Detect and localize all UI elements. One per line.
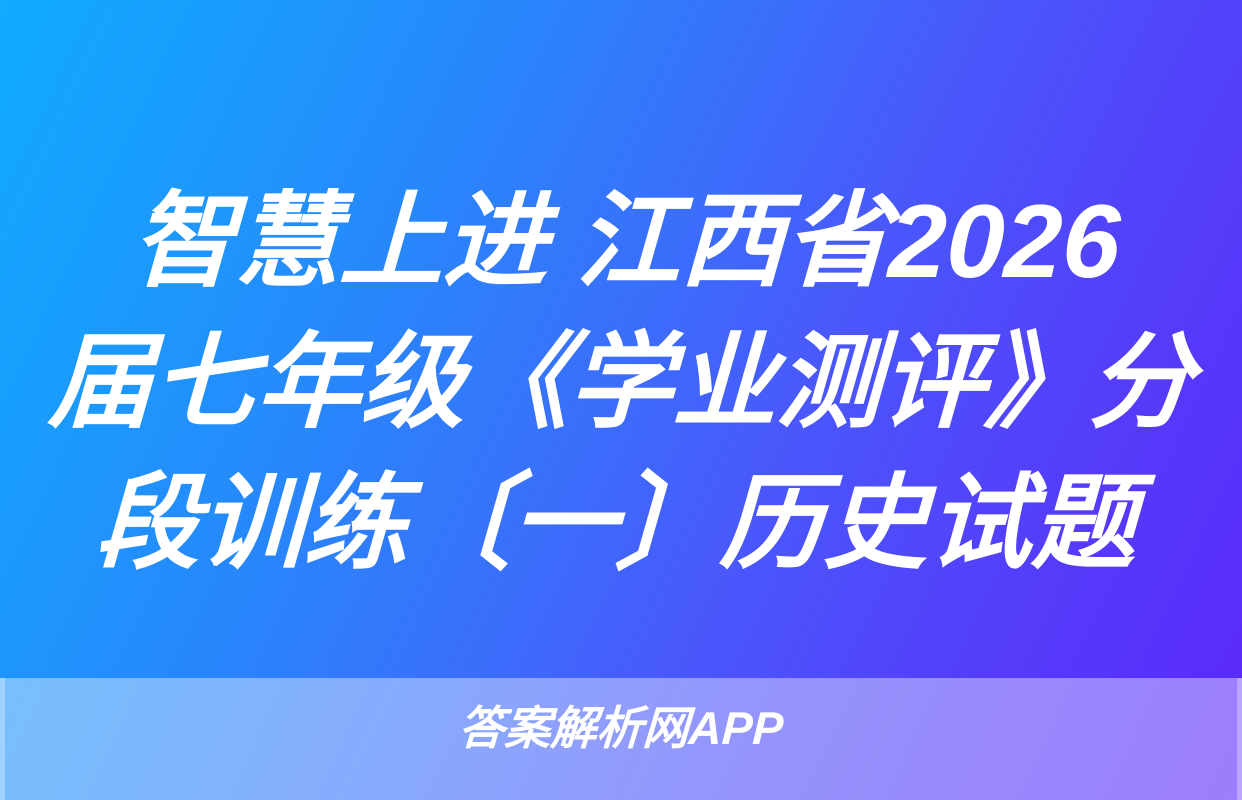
headline-line-3: 段训练〔一〕历史试题 — [0, 454, 1240, 595]
app-watermark: 答案解析网APP — [0, 702, 1242, 754]
headline-line-1: 智慧上进 江西省2026 — [2, 172, 1242, 313]
headline-line-2: 届七年级《学业测评》分 — [0, 313, 1242, 454]
poster-headline: 智慧上进 江西省2026 届七年级《学业测评》分 段训练〔一〕历史试题 — [0, 172, 1242, 595]
poster-canvas: 智慧上进 江西省2026 届七年级《学业测评》分 段训练〔一〕历史试题 答案解析… — [0, 0, 1242, 800]
